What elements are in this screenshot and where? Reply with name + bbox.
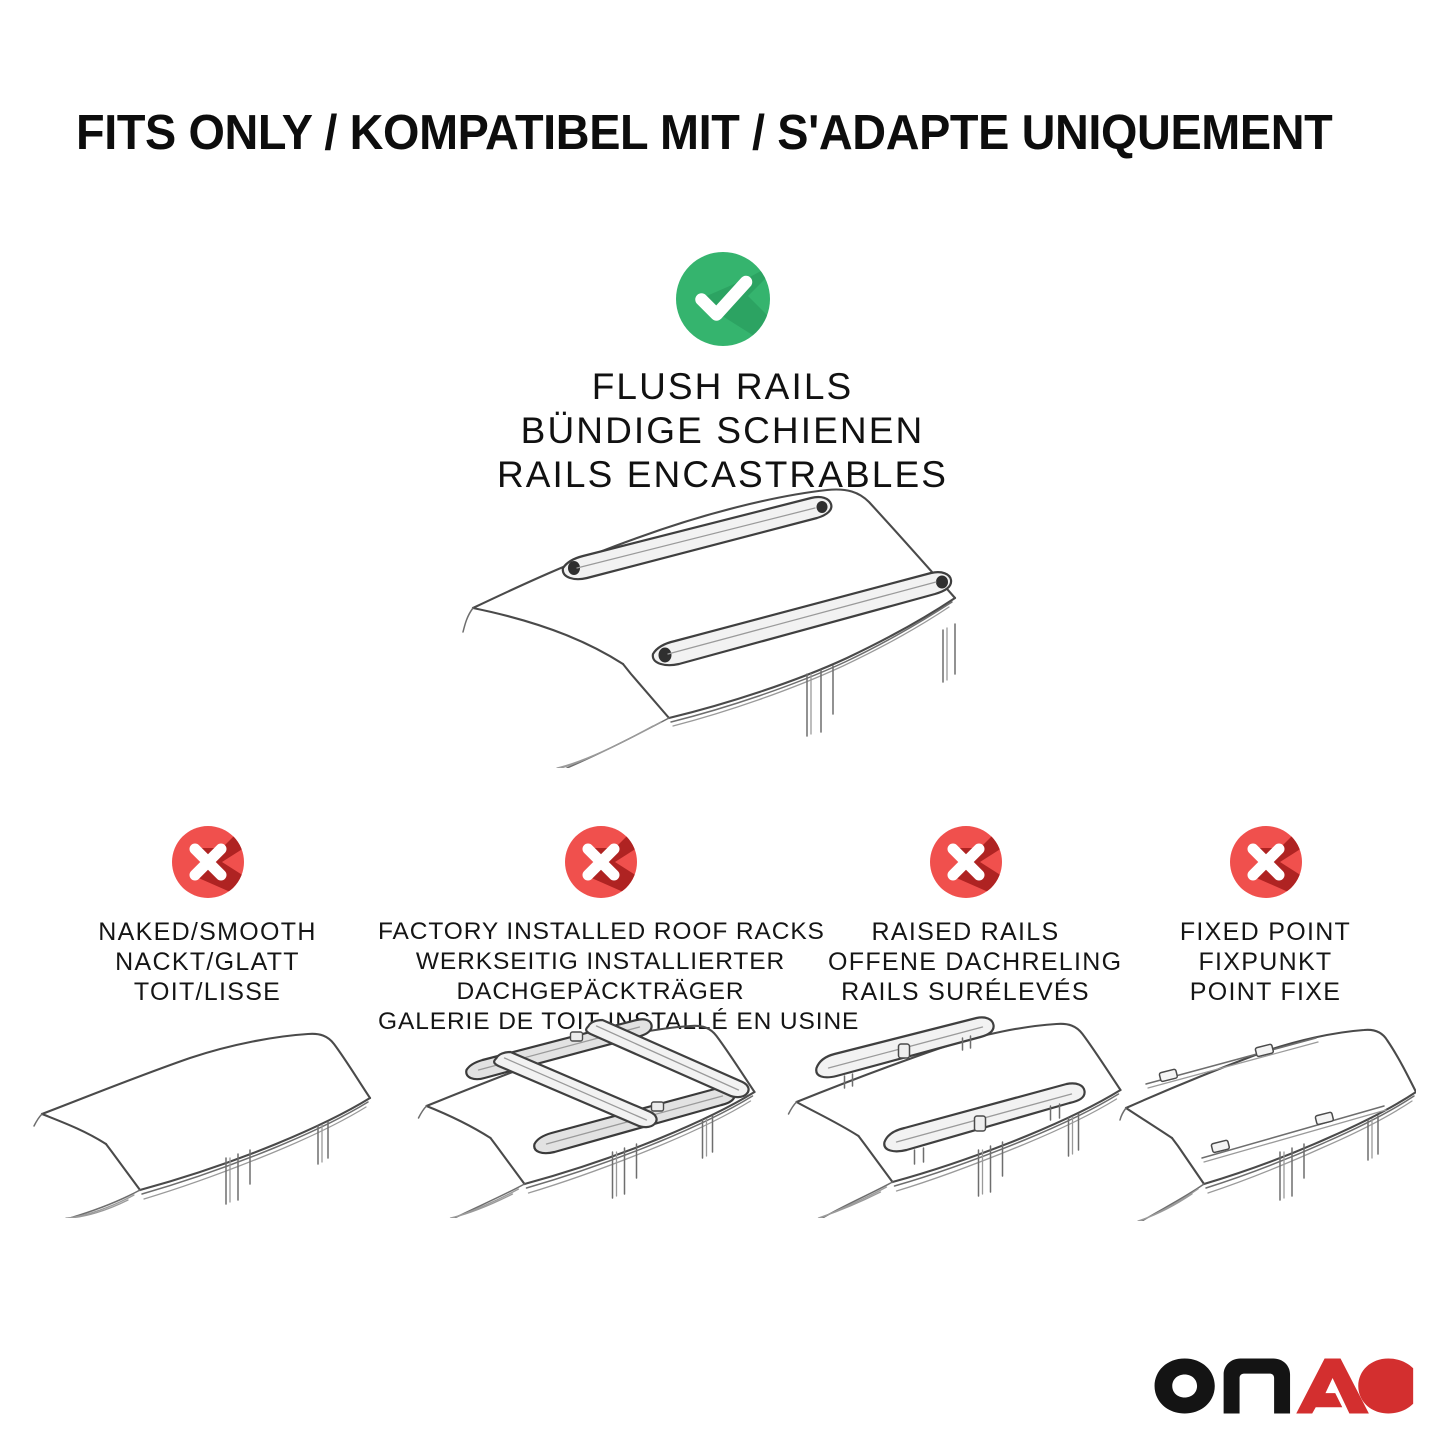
item-label-de: OFFENE DACHRELING [828, 947, 1103, 977]
item-label-fr: TOIT/LISSE [40, 977, 375, 1007]
red-x-circle-icon [565, 826, 637, 898]
incompatible-item-raised-rails: RAISED RAILS OFFENE DACHRELING RAILS SUR… [828, 826, 1103, 1007]
item-label-de: NACKT/GLATT [40, 947, 375, 977]
item-label-en: FIXED POINT [1128, 917, 1403, 947]
page-title: FITS ONLY / KOMPATIBEL MIT / S'ADAPTE UN… [76, 104, 1318, 162]
item-label-en: FACTORY INSTALLED ROOF RACKS [378, 917, 823, 947]
illustration-flush-rails [455, 468, 1015, 768]
item-label-de: FIXPUNKT [1128, 947, 1403, 977]
item-label-en: RAISED RAILS [828, 917, 1103, 947]
red-x-circle-icon [1230, 826, 1302, 898]
item-label-en: NAKED/SMOOTH [40, 917, 375, 947]
infographic-page: FITS ONLY / KOMPATIBEL MIT / S'ADAPTE UN… [0, 0, 1445, 1445]
incompatible-item-naked-smooth: NAKED/SMOOTH NACKT/GLATT TOIT/LISSE [40, 826, 375, 1007]
compatible-label-en: FLUSH RAILS [0, 365, 1445, 409]
green-check-circle-icon [676, 252, 770, 346]
incompatible-item-fixed-point: FIXED POINT FIXPUNKT POINT FIXE [1128, 826, 1403, 1007]
red-x-circle-icon [930, 826, 1002, 898]
item-labels: NAKED/SMOOTH NACKT/GLATT TOIT/LISSE [40, 917, 375, 1007]
compatible-label-de: BÜNDIGE SCHIENEN [0, 409, 1445, 453]
illustration-factory-crossbars [408, 996, 793, 1218]
incompatible-item-factory-racks: FACTORY INSTALLED ROOF RACKS WERKSEITIG … [378, 826, 823, 1037]
illustration-bare-roof [28, 1018, 388, 1218]
compatible-section: FLUSH RAILS BÜNDIGE SCHIENEN RAILS ENCAS… [0, 252, 1445, 497]
illustration-fixed-points [1116, 1016, 1416, 1221]
red-x-circle-icon [172, 826, 244, 898]
illustration-raised-rails [778, 998, 1153, 1218]
item-labels: FIXED POINT FIXPUNKT POINT FIXE [1128, 917, 1403, 1007]
item-label-de-1: WERKSEITIG INSTALLIERTER [378, 947, 823, 977]
item-label-fr: POINT FIXE [1128, 977, 1403, 1007]
omac-logo [1151, 1355, 1417, 1417]
item-labels: RAISED RAILS OFFENE DACHRELING RAILS SUR… [828, 917, 1103, 1007]
incompatible-section: NAKED/SMOOTH NACKT/GLATT TOIT/LISSE [0, 826, 1445, 1246]
